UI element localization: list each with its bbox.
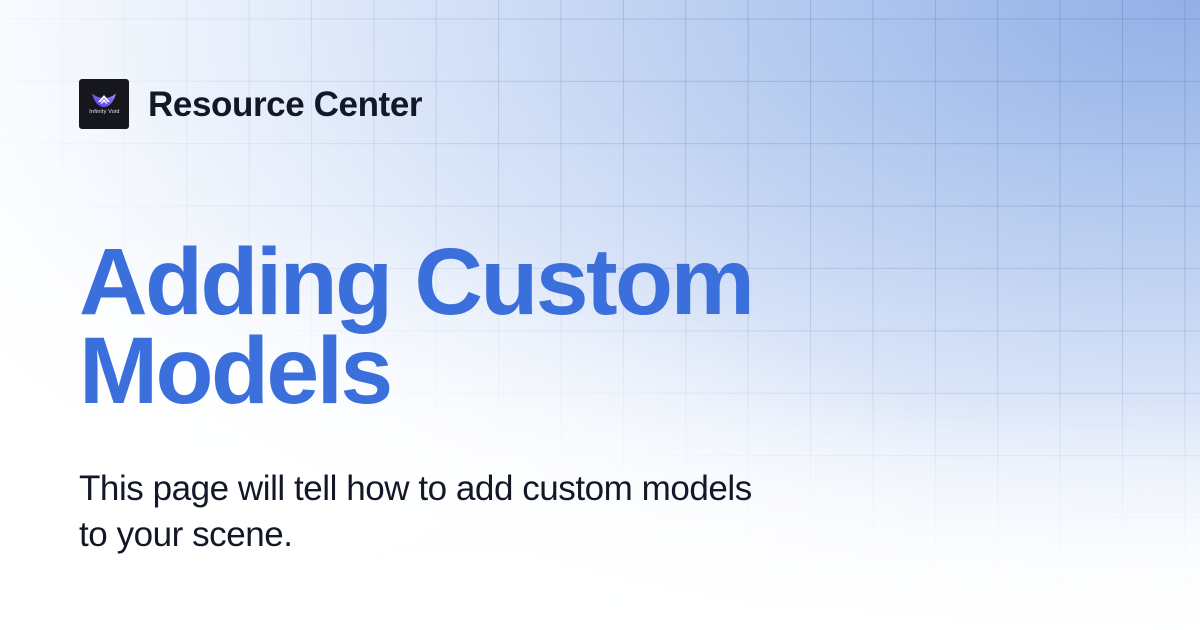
page-subtitle: This page will tell how to add custom mo…: [79, 466, 919, 558]
chevron-shield-icon: [91, 92, 117, 109]
brand-title: Resource Center: [148, 87, 422, 122]
brand-header: Infinity Void Resource Center: [79, 79, 422, 129]
og-hero-card: Infinity Void Resource Center Adding Cus…: [0, 0, 1200, 630]
page-title: Adding Custom Models: [79, 238, 869, 417]
logo-wordmark: Infinity Void: [89, 110, 119, 115]
infinity-void-logo: Infinity Void: [79, 79, 129, 129]
card-content: Infinity Void Resource Center Adding Cus…: [0, 0, 1200, 630]
